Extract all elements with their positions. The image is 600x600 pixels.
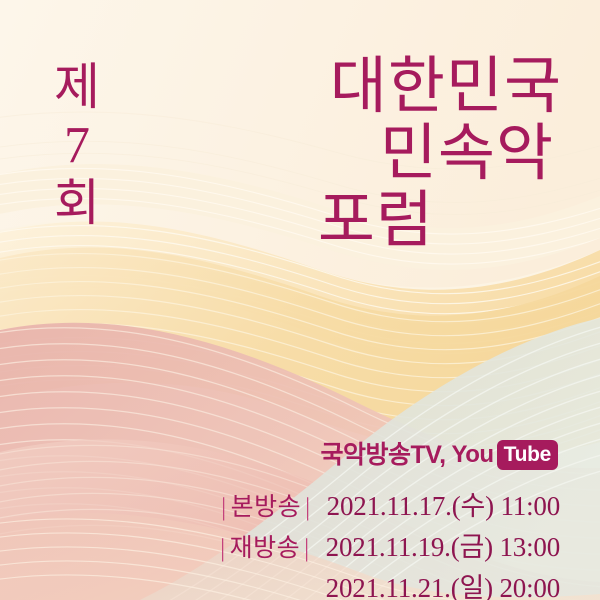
schedule-row: |본방송| 2021.11.17.(수) 11:00 <box>216 484 560 523</box>
poster-title: 대한민국 민속악 포럼 <box>318 56 562 254</box>
schedule-label-text: 본방송 <box>231 494 302 521</box>
edition-marker: 제 7 회 <box>44 62 110 228</box>
edition-prefix: 제 <box>44 62 110 112</box>
edition-number: 7 <box>44 120 110 172</box>
schedule-datetime: 2021.11.17.(수) 11:00 <box>327 484 560 523</box>
schedule-label-close-bar: | <box>300 535 314 562</box>
youtube-logo: You Tube <box>452 440 558 470</box>
edition-suffix: 회 <box>44 178 110 228</box>
event-poster: 제 7 회 대한민국 민속악 포럼 국악방송TV, You Tube |본방송|… <box>0 0 600 600</box>
schedule-row: |재방송| 2021.11.21.(일) 20:00 <box>216 566 560 600</box>
schedule-label: |본방송| <box>217 487 315 523</box>
title-line-1: 대한민국 <box>318 56 562 119</box>
schedule-datetime: 2021.11.19.(금) 13:00 <box>326 525 560 564</box>
broadcast-channel-row: 국악방송TV, You Tube <box>320 440 558 470</box>
schedule-row: |재방송| 2021.11.19.(금) 13:00 <box>216 525 560 564</box>
schedule-label-open-bar: | <box>216 535 230 562</box>
youtube-logo-tube: Tube <box>497 440 558 470</box>
schedule-label-close-bar: | <box>301 494 315 521</box>
schedule-label-open-bar: | <box>217 494 231 521</box>
schedule-label: |재방송| <box>216 528 314 564</box>
schedule-datetime: 2021.11.21.(일) 20:00 <box>326 566 560 600</box>
title-line-2: 민속악 <box>318 123 554 186</box>
youtube-logo-you: You <box>452 443 494 467</box>
schedule-label-text: 재방송 <box>230 535 301 562</box>
title-line-3: 포럼 <box>318 190 434 253</box>
broadcast-schedule: |본방송| 2021.11.17.(수) 11:00 |재방송| 2021.11… <box>216 484 560 600</box>
channel-name-label: 국악방송TV, <box>320 443 445 468</box>
